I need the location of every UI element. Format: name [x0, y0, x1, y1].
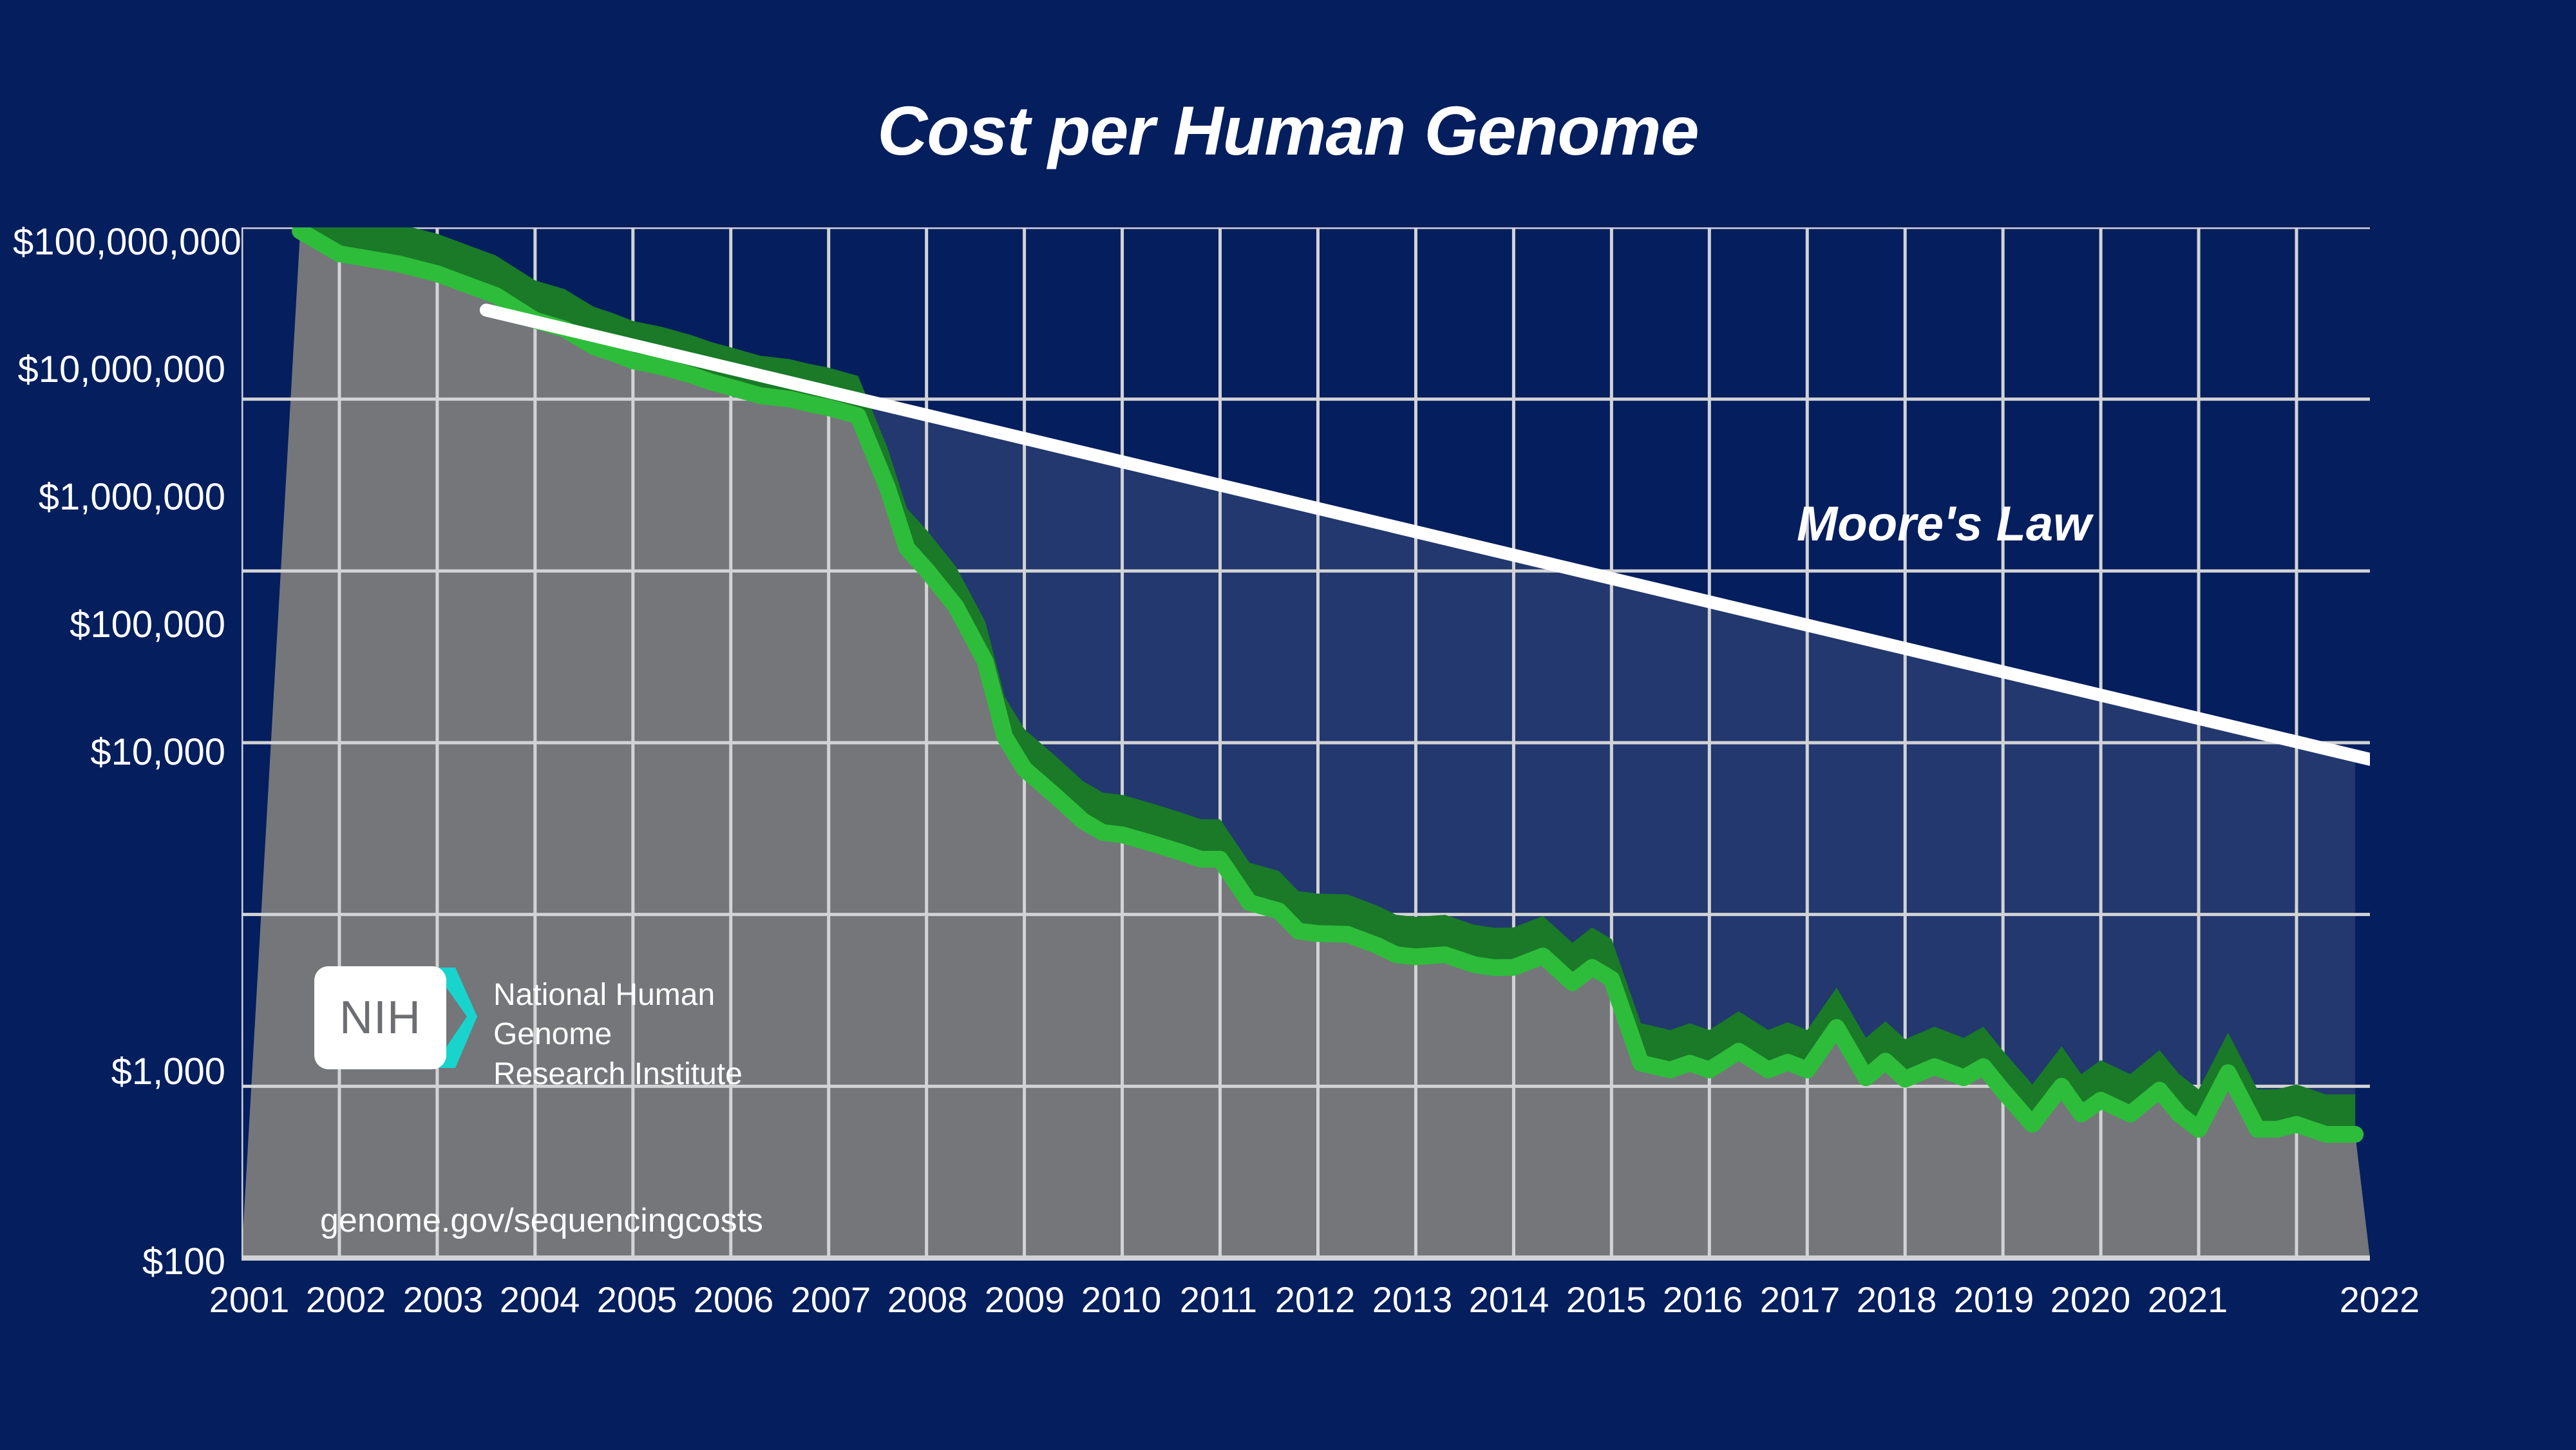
- x-tick-label-2022: 2022: [2315, 1279, 2444, 1321]
- genome-url-label: genome.gov/sequencingcosts: [320, 1201, 763, 1240]
- chart-canvas: Cost per Human Genome $100,000,000 $10,0…: [0, 0, 2576, 1450]
- nih-org-name: National Human Genome Research Institute: [493, 975, 828, 1094]
- nih-badge-label: NIH: [314, 966, 446, 1069]
- nih-logo: NIH National Human Genome Research Insti…: [314, 966, 829, 1079]
- x-tick-label-2021: 2021: [2123, 1279, 2252, 1321]
- nih-org-line2: Research Institute: [493, 1054, 828, 1094]
- nih-org-line1: National Human Genome: [493, 975, 828, 1054]
- moores-law-annotation: Moore's Law: [1797, 496, 2091, 552]
